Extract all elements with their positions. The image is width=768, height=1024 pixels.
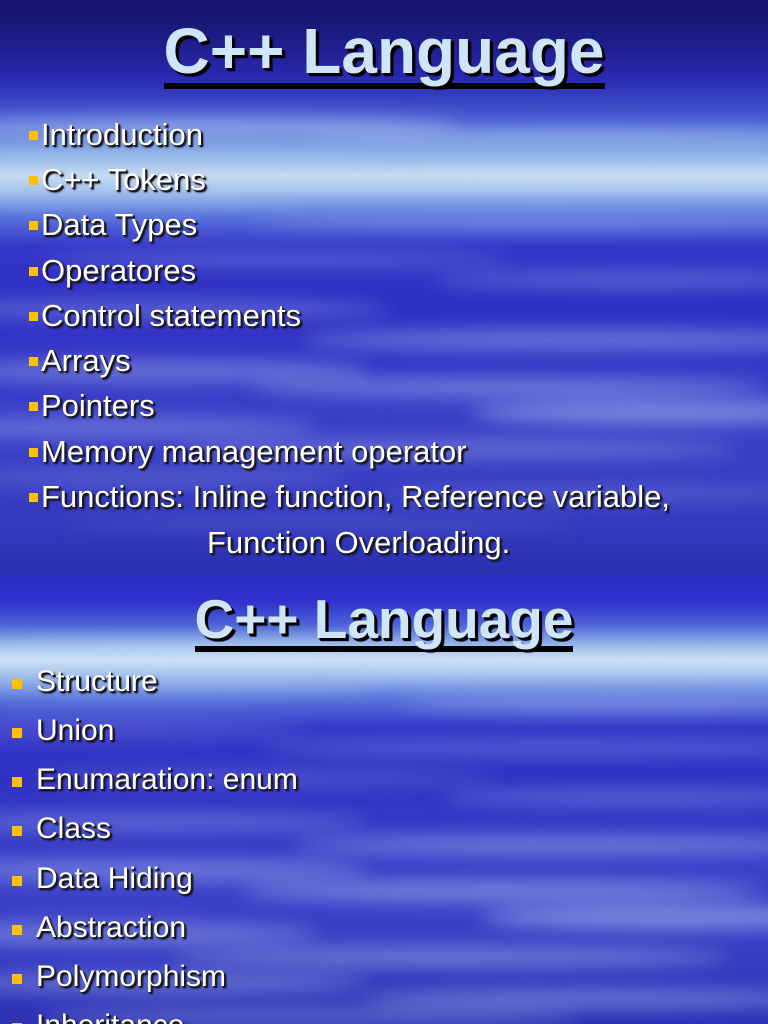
- list-item-label: Union: [36, 714, 114, 748]
- list-item-label: Control statements: [41, 299, 301, 333]
- list-item: Control statements: [0, 299, 301, 333]
- slide-deck-page: C++ Language Introduction C++ Tokens Dat…: [0, 0, 768, 1024]
- slide-2-title: C++ Language: [0, 587, 768, 652]
- slide-2: C++ Language Structure Union Enumaration…: [0, 575, 768, 1024]
- gold-square-bullet-icon: [12, 974, 22, 984]
- list-item: Memory management operator: [0, 435, 467, 469]
- gold-square-bullet-icon: [29, 176, 38, 185]
- slide-1-title: C++ Language: [0, 14, 768, 89]
- list-item: Data Types: [0, 208, 197, 242]
- gold-square-bullet-icon: [29, 267, 38, 276]
- gold-square-bullet-icon: [12, 728, 22, 738]
- list-item-label: Polymorphism: [36, 960, 226, 994]
- gold-square-bullet-icon: [12, 925, 22, 935]
- gold-square-bullet-icon: [29, 493, 38, 502]
- gold-square-bullet-icon: [29, 402, 38, 411]
- list-item-label: Memory management operator: [41, 435, 467, 469]
- gold-square-bullet-icon: [29, 131, 38, 140]
- list-item: Structure: [0, 665, 158, 699]
- list-item-label: Functions: Inline function, Reference va…: [41, 480, 670, 514]
- list-item-label: C++ Tokens: [41, 163, 206, 197]
- gold-square-bullet-icon: [29, 448, 38, 457]
- list-item-continuation-label: Function Overloading.: [207, 526, 510, 560]
- list-item: Class: [0, 812, 111, 846]
- list-item: Functions: Inline function, Reference va…: [0, 480, 670, 514]
- gold-square-bullet-icon: [12, 876, 22, 886]
- gold-square-bullet-icon: [29, 312, 38, 321]
- list-item: Data Hiding: [0, 862, 193, 896]
- list-item-label: Abstraction: [36, 911, 186, 945]
- list-item: Arrays: [0, 344, 131, 378]
- list-item-label: Data Types: [41, 208, 197, 242]
- list-item-label: Pointers: [41, 389, 155, 423]
- gold-square-bullet-icon: [29, 221, 38, 230]
- list-item: Operatores: [0, 254, 196, 288]
- list-item: Union: [0, 714, 114, 748]
- list-item: Introduction: [0, 118, 203, 152]
- gold-square-bullet-icon: [12, 777, 22, 787]
- list-item: Abstraction: [0, 911, 186, 945]
- list-item-label: Introduction: [41, 118, 203, 152]
- list-item: Polymorphism: [0, 960, 226, 994]
- slide-1: C++ Language Introduction C++ Tokens Dat…: [0, 0, 768, 575]
- list-item-label: Enumaration: enum: [36, 763, 298, 797]
- gold-square-bullet-icon: [12, 679, 22, 689]
- list-item: Pointers: [0, 389, 155, 423]
- gold-square-bullet-icon: [29, 357, 38, 366]
- list-item-label: Structure: [36, 665, 158, 699]
- list-item-label: Data Hiding: [36, 862, 193, 896]
- list-item-label: Operatores: [41, 254, 196, 288]
- list-item-label: Class: [36, 812, 111, 846]
- list-item-label: Arrays: [41, 344, 131, 378]
- list-item: Enumaration: enum: [0, 763, 298, 797]
- list-item: C++ Tokens: [0, 163, 206, 197]
- list-item: Inheritance: [0, 1009, 184, 1024]
- gold-square-bullet-icon: [12, 826, 22, 836]
- list-item-label: Inheritance: [36, 1009, 184, 1024]
